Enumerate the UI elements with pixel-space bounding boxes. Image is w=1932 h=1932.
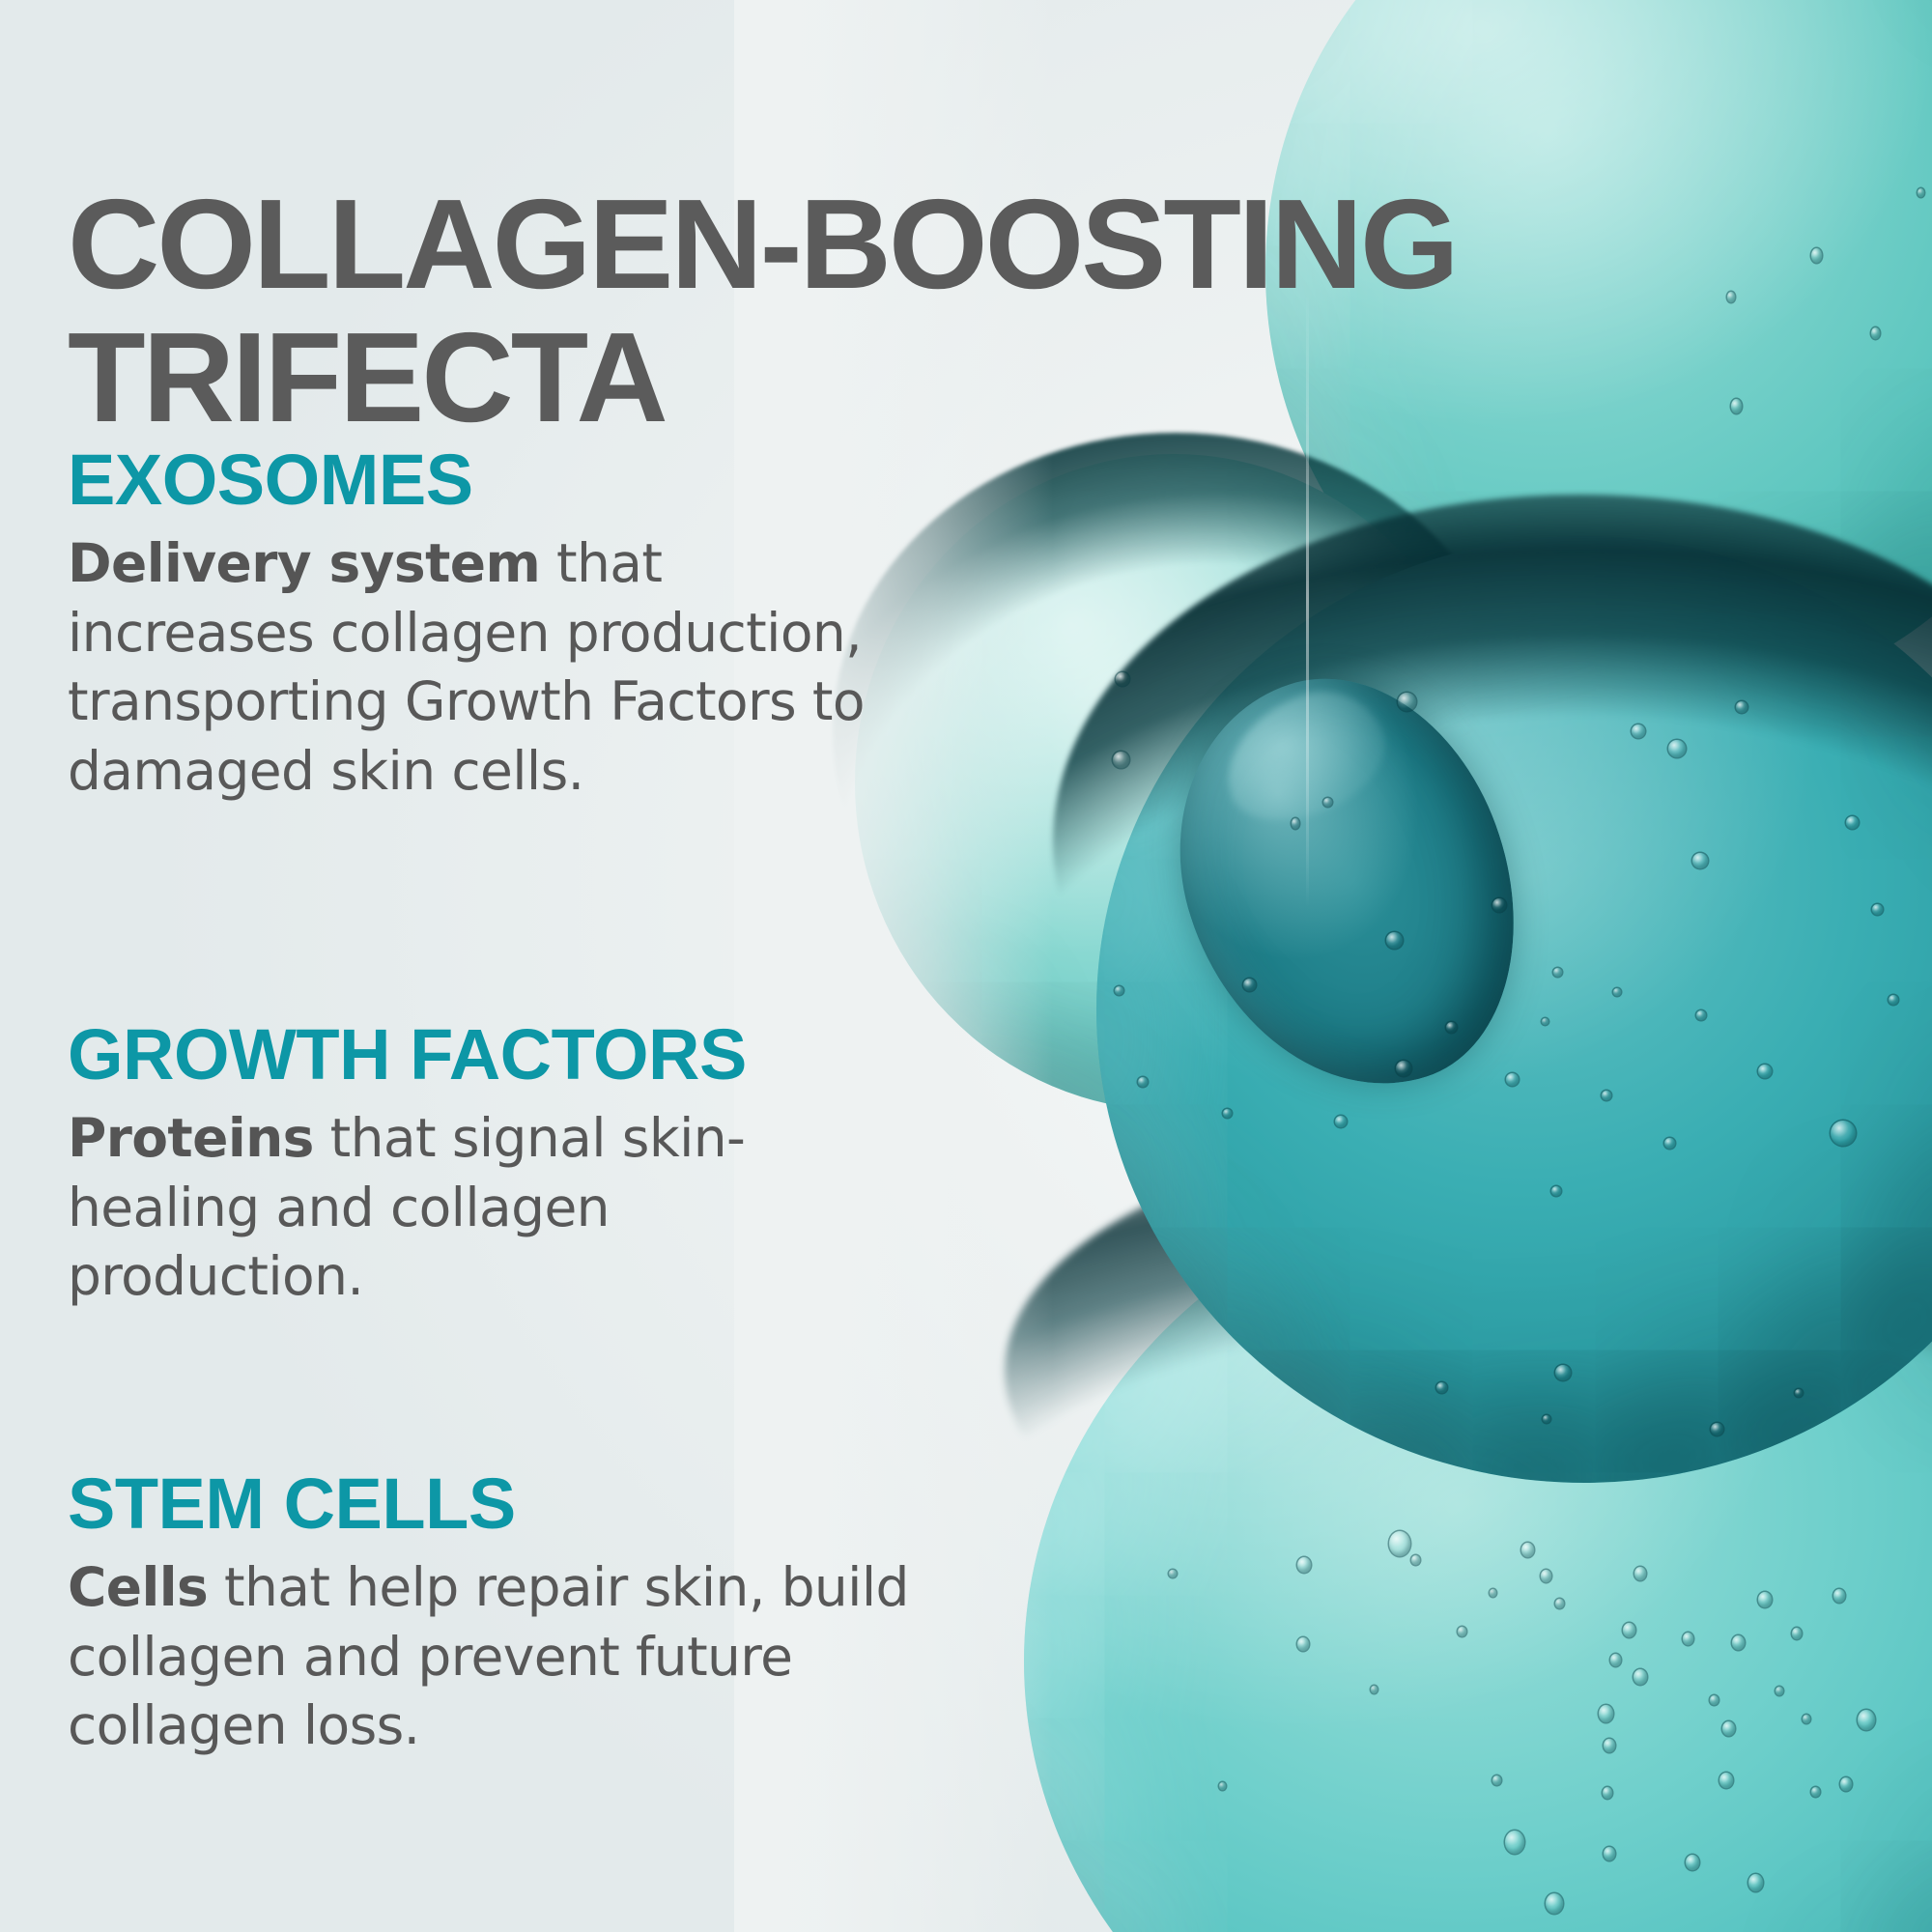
section-lead-growth-factors: Proteins: [68, 1107, 314, 1169]
bubble: [1696, 1010, 1706, 1020]
bubble: [1872, 904, 1883, 915]
section-heading-stem-cells: STEM CELLS: [68, 1468, 918, 1540]
bubble: [1686, 1855, 1699, 1870]
bubble: [1169, 1570, 1177, 1577]
bubble: [1811, 248, 1822, 263]
bubble: [1846, 816, 1859, 829]
bubble: [1634, 1669, 1647, 1685]
bubble: [1731, 399, 1742, 413]
bubble: [1398, 693, 1416, 711]
bubble: [1243, 979, 1256, 991]
bubble: [1833, 1589, 1845, 1603]
bubble: [1599, 1705, 1613, 1722]
section-heading-exosomes: EXOSOMES: [68, 444, 918, 516]
bubble: [1553, 968, 1562, 977]
bubble: [1604, 1739, 1615, 1752]
bubble: [1219, 1782, 1226, 1790]
bubble: [1389, 1531, 1410, 1556]
section-growth-factors: GROWTH FACTORS Proteins that signal skin…: [68, 1019, 918, 1312]
bubble: [1776, 1687, 1783, 1695]
bubble: [1719, 1773, 1733, 1788]
bubble: [1335, 1116, 1347, 1127]
bubble: [1722, 1721, 1735, 1736]
bubble: [1758, 1592, 1772, 1607]
bubble: [1490, 1589, 1496, 1597]
section-lead-stem-cells: Cells: [68, 1556, 208, 1618]
bubble: [1748, 1874, 1763, 1891]
bubble: [1918, 188, 1924, 197]
bubble: [1792, 1628, 1802, 1639]
bubble: [1505, 1831, 1524, 1854]
bubble: [1758, 1065, 1772, 1078]
bubble: [1871, 327, 1880, 339]
bubble: [1458, 1627, 1466, 1636]
bubble: [1795, 1389, 1803, 1397]
bubble: [1831, 1121, 1856, 1146]
bubble: [1138, 1077, 1148, 1087]
text-column: COLLAGEN-BOOSTING TRIFECTA EXOSOMES Deli…: [0, 0, 966, 1932]
bubble: [1492, 1776, 1501, 1785]
bubble: [1446, 1022, 1457, 1033]
bubble: [1113, 752, 1129, 768]
bubble: [1323, 798, 1332, 807]
bubble: [1542, 1018, 1548, 1025]
bubble: [1811, 1787, 1820, 1797]
bubble: [1803, 1715, 1810, 1723]
section-body-growth-factors: Proteins that signal skin-healing and co…: [68, 1104, 918, 1312]
section-body-stem-cells: Cells that help repair skin, build colla…: [68, 1553, 918, 1761]
bubble: [1297, 1557, 1311, 1573]
bubble: [1623, 1623, 1635, 1637]
section-heading-growth-factors: GROWTH FACTORS: [68, 1019, 918, 1091]
section-stem-cells: STEM CELLS Cells that help repair skin, …: [68, 1468, 918, 1761]
bubble: [1521, 1543, 1534, 1557]
section-body-exosomes: Delivery system that increases collagen …: [68, 529, 918, 806]
bubble: [1710, 1695, 1719, 1705]
bubble: [1664, 1138, 1675, 1149]
bubble: [1683, 1633, 1693, 1645]
section-lead-exosomes: Delivery system: [68, 532, 540, 594]
bubble: [1889, 995, 1898, 1005]
bubble: [1668, 740, 1686, 757]
bubble: [1371, 1686, 1378, 1693]
bubble: [1541, 1570, 1551, 1582]
bubble: [1116, 672, 1129, 686]
bubble: [1602, 1091, 1611, 1100]
bubble: [1555, 1599, 1564, 1608]
bubble: [1292, 818, 1299, 829]
bubble: [1858, 1710, 1875, 1730]
poster-canvas: COLLAGEN-BOOSTING TRIFECTA EXOSOMES Deli…: [0, 0, 1932, 1932]
bubble: [1115, 986, 1123, 995]
bubble: [1604, 1847, 1615, 1861]
bubble: [1692, 853, 1708, 868]
bubble: [1386, 932, 1403, 949]
bubble: [1551, 1186, 1561, 1196]
bubble: [1555, 1365, 1571, 1380]
bubble: [1543, 1415, 1550, 1423]
bubble: [1732, 1635, 1745, 1650]
bubble: [1840, 1777, 1852, 1791]
bubble: [1223, 1109, 1232, 1118]
bubble: [1610, 1654, 1621, 1666]
bubble: [1506, 1073, 1519, 1086]
bubble: [1396, 1061, 1411, 1076]
bubble: [1634, 1567, 1646, 1580]
bubble: [1492, 898, 1506, 912]
bubble: [1603, 1787, 1612, 1799]
bubble: [1632, 724, 1645, 738]
bubble: [1297, 1637, 1309, 1651]
page-title: COLLAGEN-BOOSTING TRIFECTA: [68, 178, 1729, 443]
section-exosomes: EXOSOMES Delivery system that increases …: [68, 444, 918, 806]
bubble: [1711, 1423, 1723, 1435]
bubble: [1736, 701, 1747, 713]
bubble: [1411, 1555, 1420, 1565]
bubble: [1546, 1893, 1563, 1914]
bubble: [1613, 988, 1621, 996]
bubble: [1436, 1382, 1447, 1393]
